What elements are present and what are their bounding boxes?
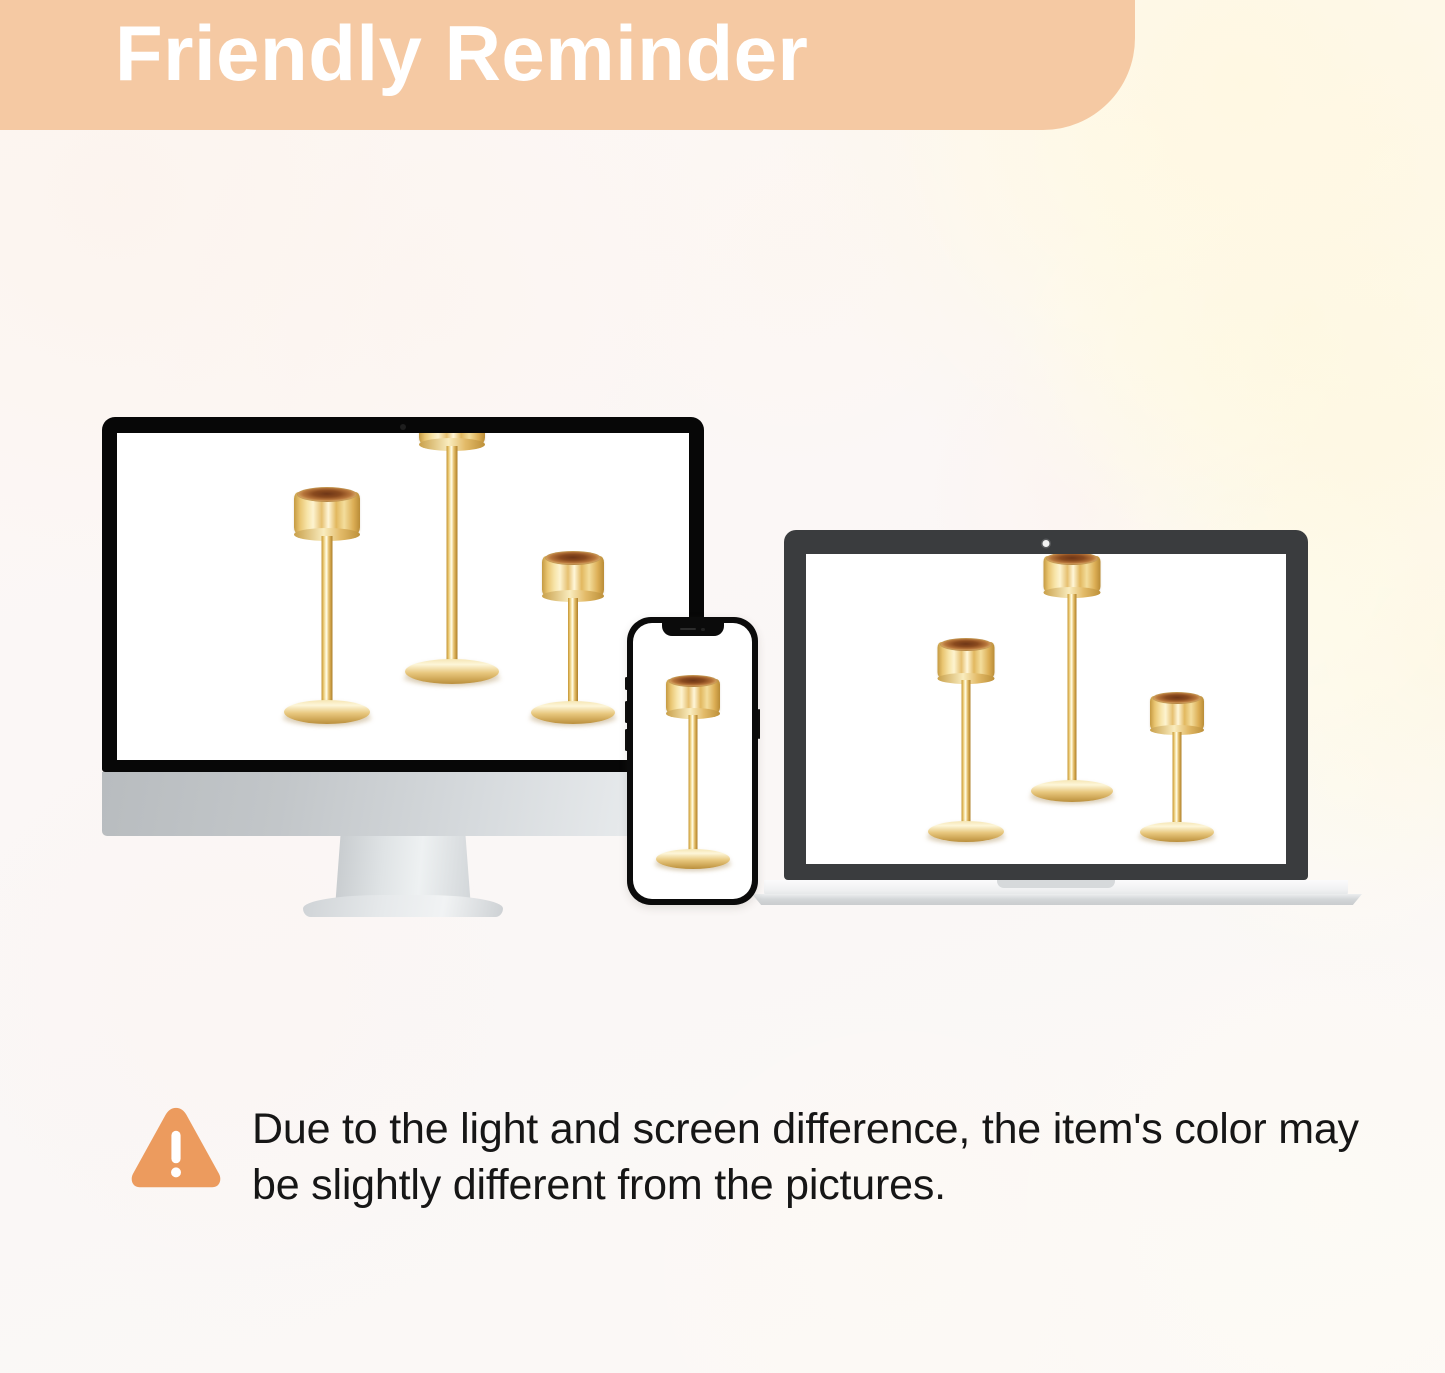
candle-cup-interior bbox=[545, 551, 601, 565]
disclaimer-note: Due to the light and screen difference, … bbox=[128, 1100, 1363, 1214]
candlestick-short bbox=[517, 556, 629, 724]
phone-screen bbox=[633, 623, 752, 899]
candle-cup-interior bbox=[1153, 692, 1202, 704]
phone-notch bbox=[662, 623, 724, 636]
desktop-monitor bbox=[102, 417, 704, 836]
reminder-infographic-page: Friendly Reminder bbox=[0, 0, 1445, 1373]
laptop-bezel bbox=[784, 530, 1308, 880]
laptop-base-deck bbox=[764, 880, 1348, 896]
laptop-screen bbox=[806, 554, 1286, 864]
candlestick-tall bbox=[647, 679, 739, 869]
disclaimer-text: Due to the light and screen difference, … bbox=[252, 1100, 1363, 1214]
header-banner: Friendly Reminder bbox=[0, 0, 1135, 130]
candle-stem bbox=[1068, 594, 1077, 783]
laptop-trackpad-notch bbox=[997, 880, 1115, 888]
monitor-chin bbox=[102, 772, 704, 836]
candle-base bbox=[284, 700, 370, 724]
candle-base bbox=[928, 821, 1004, 842]
candlestick-short bbox=[1128, 696, 1226, 842]
candle-stem bbox=[688, 715, 697, 851]
monitor-bezel bbox=[102, 417, 704, 772]
phone-camera-icon bbox=[701, 628, 705, 632]
candlestick-tall bbox=[389, 433, 515, 684]
smartphone bbox=[627, 617, 758, 905]
candle-cup-interior bbox=[940, 638, 992, 651]
candlestick-tall bbox=[1018, 556, 1126, 802]
candle-cup-interior bbox=[297, 487, 357, 502]
laptop-base-edge bbox=[752, 894, 1362, 905]
candle-stem bbox=[447, 446, 458, 663]
candle-base bbox=[656, 849, 730, 869]
monitor-stand-foot bbox=[303, 895, 503, 917]
monitor-screen bbox=[117, 433, 689, 760]
candle-stem bbox=[568, 598, 578, 703]
candle-base bbox=[531, 701, 615, 724]
phone-body bbox=[627, 617, 758, 905]
candle-base bbox=[405, 659, 499, 684]
laptop-camera-icon bbox=[1043, 540, 1050, 547]
candle-stem bbox=[962, 680, 971, 823]
candle-stem bbox=[1173, 732, 1182, 822]
monitor-camera-icon bbox=[400, 424, 406, 430]
candle-base bbox=[1140, 822, 1214, 842]
phone-speaker-icon bbox=[680, 628, 696, 630]
candle-stem bbox=[322, 536, 333, 703]
candlestick-medium bbox=[916, 642, 1016, 842]
laptop bbox=[784, 530, 1308, 880]
candle-cup-interior bbox=[668, 675, 717, 687]
candle-base bbox=[1031, 780, 1113, 802]
warning-triangle-icon bbox=[128, 1104, 224, 1192]
candlestick-medium bbox=[269, 492, 385, 724]
page-title: Friendly Reminder bbox=[115, 14, 808, 92]
